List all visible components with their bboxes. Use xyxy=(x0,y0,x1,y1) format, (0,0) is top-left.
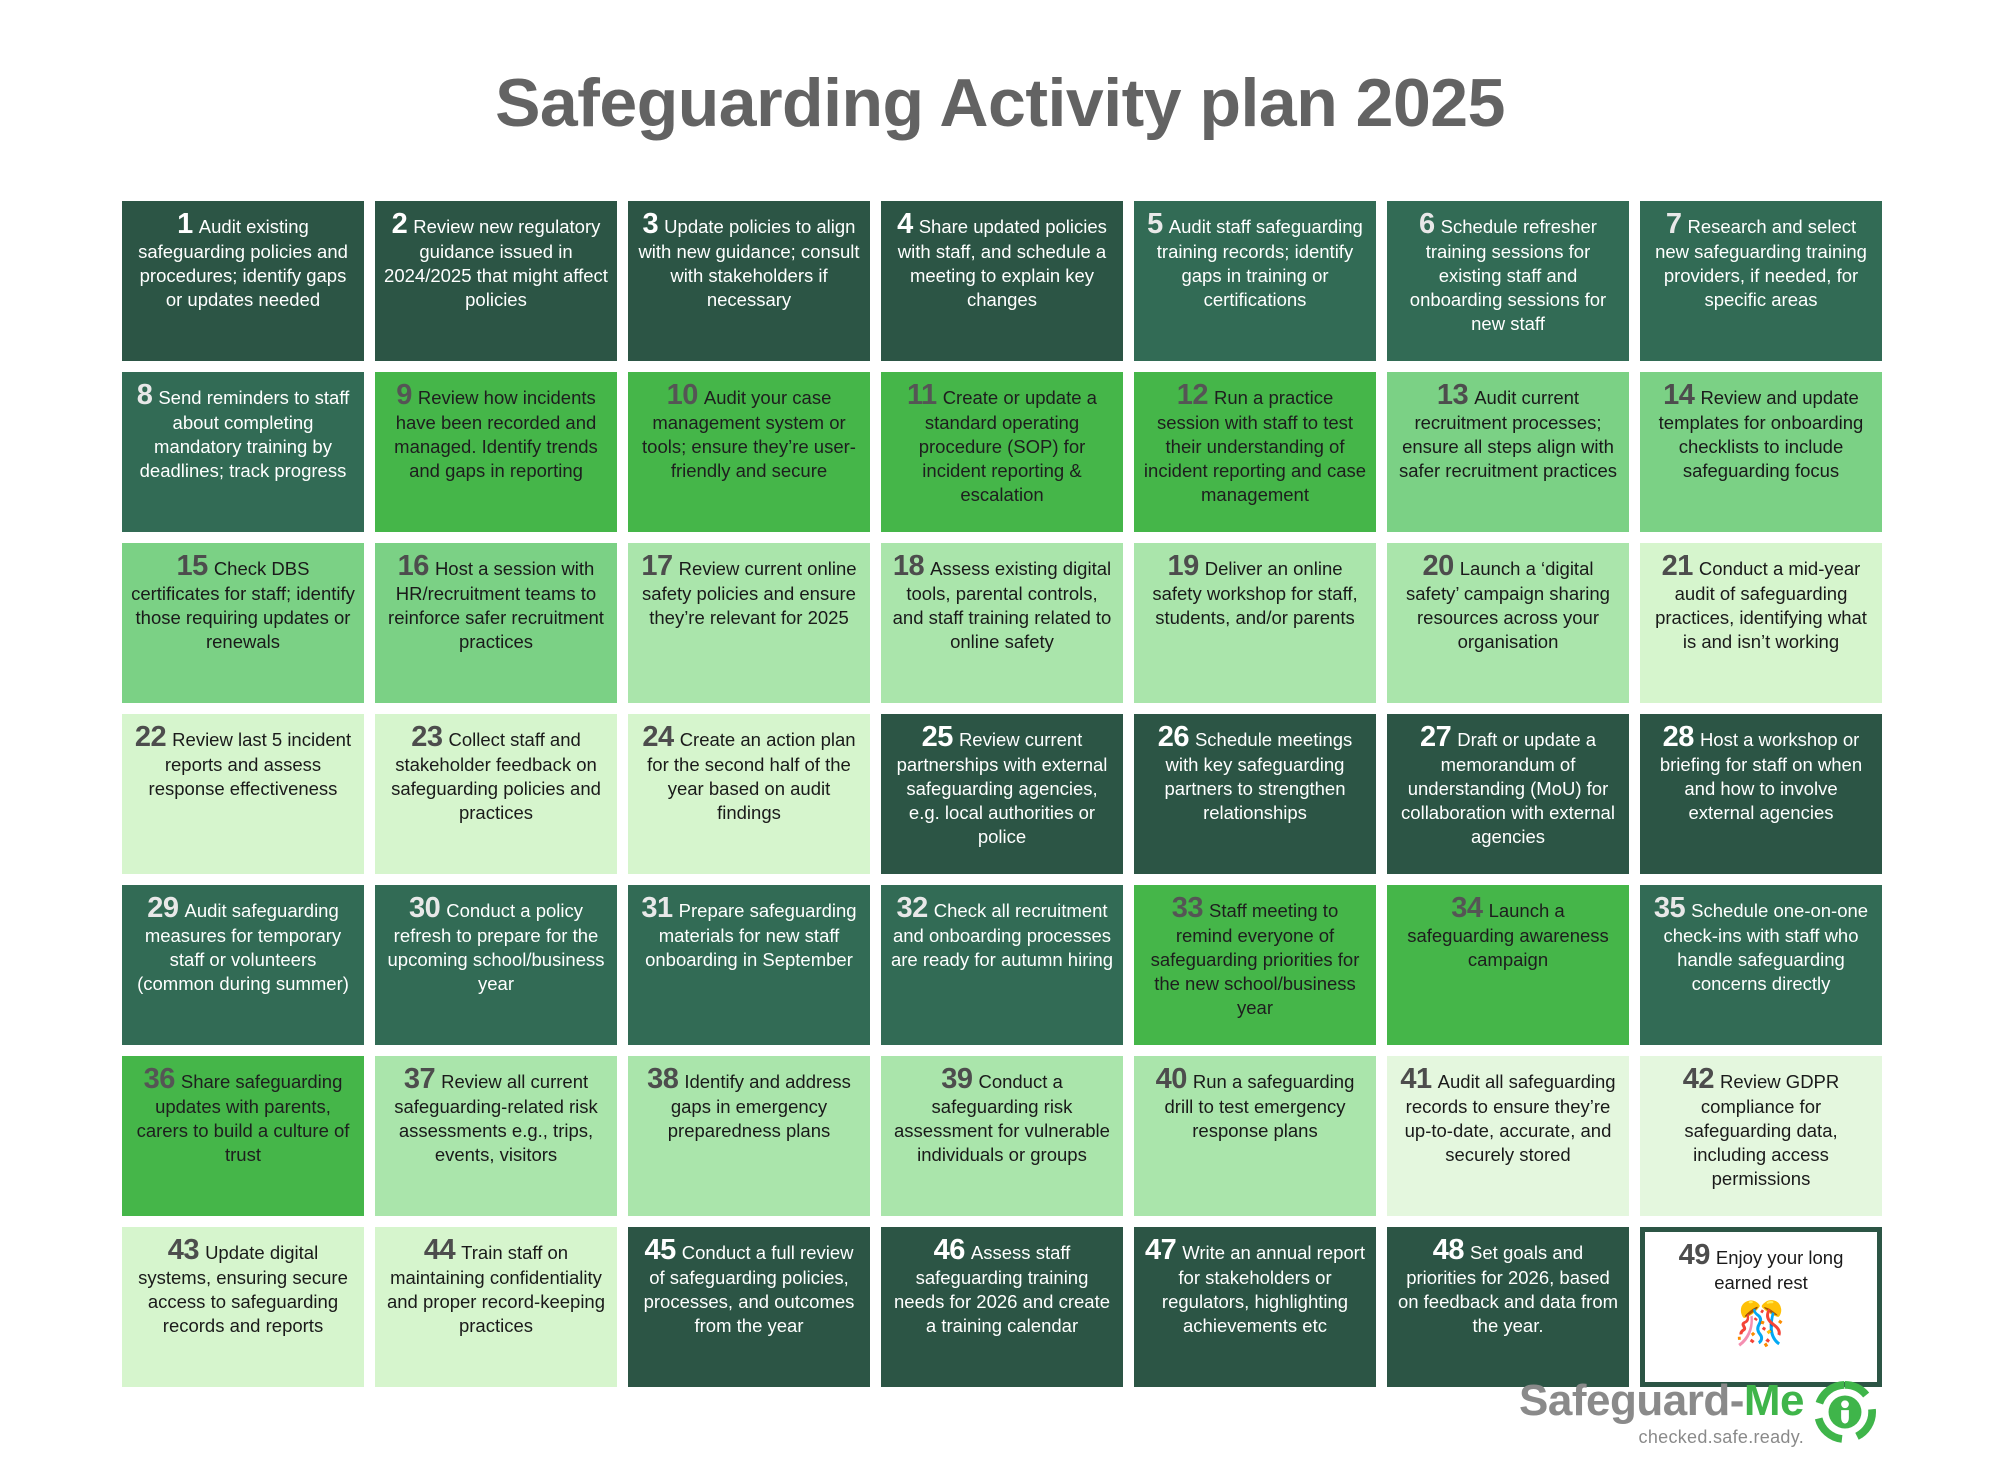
activity-cell-24[interactable]: 24Create an action plan for the second h… xyxy=(628,714,870,874)
activity-number: 33 xyxy=(1172,892,1203,924)
logo-tagline: checked.safe.ready. xyxy=(1519,1428,1804,1446)
activity-text: Review how incidents have been recorded … xyxy=(394,387,598,481)
activity-cell-43[interactable]: 43Update digital systems, ensuring secur… xyxy=(122,1227,364,1387)
activity-cell-26[interactable]: 26Schedule meetings with key safeguardin… xyxy=(1134,714,1376,874)
activity-cell-5[interactable]: 5Audit staff safeguarding training recor… xyxy=(1134,201,1376,361)
activity-number: 9 xyxy=(396,379,412,411)
activity-cell-34[interactable]: 34Launch a safeguarding awareness campai… xyxy=(1387,885,1629,1045)
activity-number: 20 xyxy=(1423,550,1454,582)
activity-number: 6 xyxy=(1419,208,1435,240)
activity-text: Conduct a safeguarding risk assessment f… xyxy=(894,1071,1110,1165)
brand-footer: Safeguard-Me checked.safe.ready. xyxy=(1519,1379,1876,1446)
activity-text: Audit staff safeguarding training record… xyxy=(1157,216,1363,310)
activity-cell-11[interactable]: 11Create or update a standard operating … xyxy=(881,372,1123,532)
activity-cell-47[interactable]: 47Write an annual report for stakeholder… xyxy=(1134,1227,1376,1387)
activity-number: 10 xyxy=(667,379,698,411)
activity-cell-27[interactable]: 27Draft or update a memorandum of unders… xyxy=(1387,714,1629,874)
activity-number: 5 xyxy=(1147,208,1163,240)
activity-cell-48[interactable]: 48Set goals and priorities for 2026, bas… xyxy=(1387,1227,1629,1387)
activity-cell-21[interactable]: 21Conduct a mid-year audit of safeguardi… xyxy=(1640,543,1882,703)
activity-cell-12[interactable]: 12Run a practice session with staff to t… xyxy=(1134,372,1376,532)
celebration-bells-icon: 🎊 xyxy=(1654,1303,1868,1345)
activity-cell-28[interactable]: 28Host a workshop or briefing for staff … xyxy=(1640,714,1882,874)
activity-number: 23 xyxy=(411,721,442,753)
activity-cell-3[interactable]: 3Update policies to align with new guida… xyxy=(628,201,870,361)
activity-cell-33[interactable]: 33Staff meeting to remind everyone of sa… xyxy=(1134,885,1376,1045)
activity-number: 27 xyxy=(1420,721,1451,753)
activity-cell-22[interactable]: 22Review last 5 incident reports and ass… xyxy=(122,714,364,874)
activity-cell-46[interactable]: 46Assess staff safeguarding training nee… xyxy=(881,1227,1123,1387)
activity-cell-18[interactable]: 18Assess existing digital tools, parenta… xyxy=(881,543,1123,703)
activity-number: 42 xyxy=(1683,1063,1714,1095)
activity-cell-44[interactable]: 44Train staff on maintaining confidentia… xyxy=(375,1227,617,1387)
activity-cell-19[interactable]: 19Deliver an online safety workshop for … xyxy=(1134,543,1376,703)
activity-text: Share updated policies with staff, and s… xyxy=(898,216,1107,310)
activity-text: Audit existing safeguarding policies and… xyxy=(138,216,348,310)
activity-number: 31 xyxy=(641,892,672,924)
activity-number: 25 xyxy=(922,721,953,753)
activity-number: 49 xyxy=(1679,1239,1710,1271)
activity-cell-31[interactable]: 31Prepare safeguarding materials for new… xyxy=(628,885,870,1045)
activity-number: 12 xyxy=(1177,379,1208,411)
activity-cell-4[interactable]: 4Share updated policies with staff, and … xyxy=(881,201,1123,361)
activity-cell-25[interactable]: 25Review current partnerships with exter… xyxy=(881,714,1123,874)
activity-number: 3 xyxy=(643,208,659,240)
activity-number: 28 xyxy=(1663,721,1694,753)
activity-cell-16[interactable]: 16Host a session with HR/recruitment tea… xyxy=(375,543,617,703)
activity-text: Write an annual report for stakeholders … xyxy=(1162,1242,1365,1336)
activity-cell-36[interactable]: 36Share safeguarding updates with parent… xyxy=(122,1056,364,1216)
activity-number: 14 xyxy=(1663,379,1694,411)
activity-number: 7 xyxy=(1666,208,1682,240)
activity-text: Assess existing digital tools, parental … xyxy=(893,558,1112,652)
activity-text: Update policies to align with new guidan… xyxy=(638,216,859,310)
activity-number: 37 xyxy=(404,1063,435,1095)
activity-number: 26 xyxy=(1158,721,1189,753)
activity-cell-35[interactable]: 35Schedule one-on-one check-ins with sta… xyxy=(1640,885,1882,1045)
activity-text: Create an action plan for the second hal… xyxy=(647,729,855,823)
activity-text: Enjoy your long earned rest xyxy=(1714,1247,1843,1292)
activity-cell-13[interactable]: 13Audit current recruitment processes; e… xyxy=(1387,372,1629,532)
activity-cell-39[interactable]: 39Conduct a safeguarding risk assessment… xyxy=(881,1056,1123,1216)
activity-cell-37[interactable]: 37Review all current safeguarding-relate… xyxy=(375,1056,617,1216)
activity-number: 41 xyxy=(1400,1063,1431,1095)
activity-cell-14[interactable]: 14Review and update templates for onboar… xyxy=(1640,372,1882,532)
activity-text: Schedule refresher training sessions for… xyxy=(1410,216,1606,334)
activity-cell-15[interactable]: 15Check DBS certificates for staff; iden… xyxy=(122,543,364,703)
activity-text: Identify and address gaps in emergency p… xyxy=(668,1071,851,1140)
activity-cell-20[interactable]: 20Launch a ‘digital safety’ campaign sha… xyxy=(1387,543,1629,703)
activity-text: Review last 5 incident reports and asses… xyxy=(149,729,352,798)
activity-number: 15 xyxy=(177,550,208,582)
activity-number: 48 xyxy=(1433,1234,1464,1266)
activity-number: 40 xyxy=(1156,1063,1187,1095)
poster-page: Safeguarding Activity plan 2025 1Audit e… xyxy=(0,46,2000,1460)
activity-cell-23[interactable]: 23Collect staff and stakeholder feedback… xyxy=(375,714,617,874)
activity-cell-38[interactable]: 38Identify and address gaps in emergency… xyxy=(628,1056,870,1216)
activity-number: 16 xyxy=(398,550,429,582)
activity-number: 45 xyxy=(645,1234,676,1266)
logo-text: Safeguard-Me checked.safe.ready. xyxy=(1519,1379,1804,1446)
activity-grid: 1Audit existing safeguarding policies an… xyxy=(122,201,1882,1387)
activity-cell-17[interactable]: 17Review current online safety policies … xyxy=(628,543,870,703)
activity-number: 19 xyxy=(1167,550,1198,582)
logo-name-first: Safeguard- xyxy=(1519,1376,1744,1425)
activity-text: Schedule one-on-one check-ins with staff… xyxy=(1663,900,1868,994)
activity-text: Set goals and priorities for 2026, based… xyxy=(1398,1242,1618,1336)
activity-number: 32 xyxy=(896,892,927,924)
activity-number: 47 xyxy=(1145,1234,1176,1266)
activity-number: 11 xyxy=(907,379,937,411)
activity-cell-1[interactable]: 1Audit existing safeguarding policies an… xyxy=(122,201,364,361)
activity-number: 21 xyxy=(1662,550,1693,582)
logo-name-second: Me xyxy=(1744,1376,1804,1425)
activity-cell-40[interactable]: 40Run a safeguarding drill to test emerg… xyxy=(1134,1056,1376,1216)
activity-text: Assess staff safeguarding training needs… xyxy=(894,1242,1110,1336)
activity-cell-9[interactable]: 9Review how incidents have been recorded… xyxy=(375,372,617,532)
activity-number: 8 xyxy=(137,379,153,411)
activity-cell-41[interactable]: 41Audit all safeguarding records to ensu… xyxy=(1387,1056,1629,1216)
activity-text: Run a safeguarding drill to test emergen… xyxy=(1165,1071,1355,1140)
activity-text: Schedule meetings with key safeguarding … xyxy=(1165,729,1353,823)
activity-text: Create or update a standard operating pr… xyxy=(919,387,1097,505)
activity-cell-8[interactable]: 8Send reminders to staff about completin… xyxy=(122,372,364,532)
activity-number: 44 xyxy=(424,1234,455,1266)
activity-cell-30[interactable]: 30Conduct a policy refresh to prepare fo… xyxy=(375,885,617,1045)
activity-text: Audit current recruitment processes; ens… xyxy=(1399,387,1617,481)
activity-number: 36 xyxy=(144,1063,175,1095)
activity-text: Train staff on maintaining confidentiali… xyxy=(387,1242,605,1336)
activity-number: 46 xyxy=(934,1234,965,1266)
activity-number: 1 xyxy=(177,208,193,240)
activity-number: 38 xyxy=(647,1063,678,1095)
activity-number: 43 xyxy=(168,1234,199,1266)
activity-cell-45[interactable]: 45Conduct a full review of safeguarding … xyxy=(628,1227,870,1387)
activity-cell-42[interactable]: 42Review GDPR compliance for safeguardin… xyxy=(1640,1056,1882,1216)
activity-text: Audit all safeguarding records to ensure… xyxy=(1405,1071,1616,1165)
activity-cell-32[interactable]: 32Check all recruitment and onboarding p… xyxy=(881,885,1123,1045)
activity-text: Review new regulatory guidance issued in… xyxy=(384,216,608,310)
activity-text: Send reminders to staff about completing… xyxy=(140,387,350,481)
activity-number: 13 xyxy=(1437,379,1468,411)
activity-number: 34 xyxy=(1451,892,1482,924)
activity-number: 17 xyxy=(641,550,672,582)
activity-number: 18 xyxy=(893,550,924,582)
activity-number: 22 xyxy=(135,721,166,753)
activity-cell-6[interactable]: 6Schedule refresher training sessions fo… xyxy=(1387,201,1629,361)
activity-cell-10[interactable]: 10Audit your case management system or t… xyxy=(628,372,870,532)
activity-text: Launch a safeguarding awareness campaign xyxy=(1407,900,1609,969)
activity-text: Review current online safety policies an… xyxy=(642,558,857,627)
activity-number: 39 xyxy=(941,1063,972,1095)
activity-cell-7[interactable]: 7Research and select new safeguarding tr… xyxy=(1640,201,1882,361)
activity-number: 30 xyxy=(409,892,440,924)
page-title: Safeguarding Activity plan 2025 xyxy=(122,46,1878,156)
activity-text: Prepare safeguarding materials for new s… xyxy=(645,900,856,969)
activity-text: Check DBS certificates for staff; identi… xyxy=(131,558,355,652)
shield-person-icon xyxy=(1814,1381,1876,1443)
activity-number: 24 xyxy=(642,721,673,753)
logo-wordmark: Safeguard-Me xyxy=(1519,1379,1804,1423)
activity-number: 29 xyxy=(147,892,178,924)
activity-cell-49[interactable]: 49Enjoy your long earned rest🎊 xyxy=(1640,1227,1882,1387)
activity-cell-29[interactable]: 29Audit safeguarding measures for tempor… xyxy=(122,885,364,1045)
activity-number: 4 xyxy=(897,208,913,240)
activity-cell-2[interactable]: 2Review new regulatory guidance issued i… xyxy=(375,201,617,361)
activity-number: 35 xyxy=(1654,892,1685,924)
activity-number: 2 xyxy=(392,208,408,240)
activity-text: Research and select new safeguarding tra… xyxy=(1655,216,1867,310)
